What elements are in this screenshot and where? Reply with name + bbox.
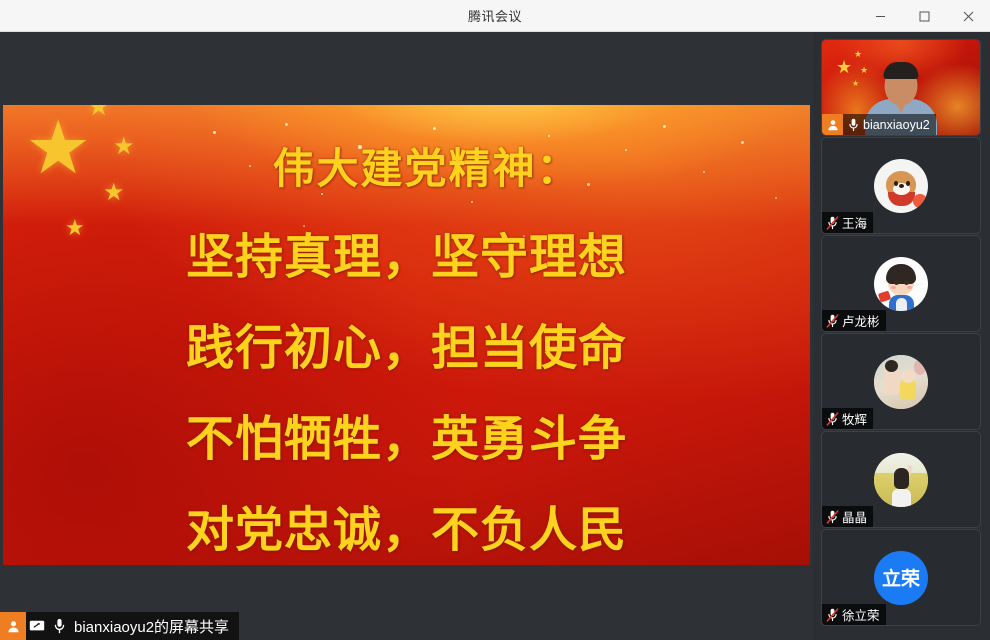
initials-avatar: 立荣 (874, 551, 928, 605)
slide-title: 伟大建党精神： (272, 135, 580, 196)
share-status-text: bianxiaoyu2的屏幕共享 (70, 616, 239, 637)
microphone-muted-icon[interactable] (822, 604, 842, 625)
participant-name: 晶晶 (842, 507, 867, 526)
microphone-muted-icon[interactable] (822, 408, 842, 429)
cartoon-boy-avatar-image (874, 257, 928, 311)
participant-tile[interactable]: 王海 (822, 138, 980, 233)
participant-name-strip: 晶晶 (822, 506, 873, 527)
participant-name: 牧辉 (842, 409, 867, 428)
participant-name-strip: 卢龙彬 (822, 310, 886, 331)
participant-tile[interactable]: 立荣 徐立荣 (822, 530, 980, 625)
slide-line-1: 坚持真理，坚守理想 (186, 217, 627, 287)
slide-line-3: 不怕牺牲，英勇斗争 (186, 399, 627, 469)
participant-tile-host[interactable]: ★ ★ ★ ★ (822, 40, 980, 135)
participant-tile[interactable]: 晶晶 (822, 432, 980, 527)
shiba-dog-avatar-image (874, 159, 928, 213)
screen-share-status-bar: bianxiaoyu2的屏幕共享 (0, 612, 239, 640)
slide-text-block: 伟大建党精神： 坚持真理，坚守理想 践行初心，担当使命 不怕牺牲，英勇斗争 对党… (3, 105, 810, 565)
shared-slide: ★ ★ ★ ★ ★ 伟大建党精神： 坚持真理，坚守理想 践行初心，担当使命 不怕… (3, 105, 810, 565)
participant-name: bianxiaoyu2 (863, 118, 930, 132)
microphone-muted-icon[interactable] (822, 506, 842, 527)
host-person-icon (0, 612, 26, 640)
slide-line-4: 对党忠诚，不负人民 (186, 490, 627, 560)
host-person-icon (822, 114, 843, 135)
shared-screen-stage[interactable]: ★ ★ ★ ★ ★ 伟大建党精神： 坚持真理，坚守理想 践行初心，担当使命 不怕… (0, 32, 813, 640)
photo-avatar-image (874, 453, 928, 507)
participant-name-strip: 牧辉 (822, 408, 873, 429)
close-button[interactable] (946, 0, 990, 32)
participant-name: 卢龙彬 (842, 311, 880, 330)
participant-name-strip: 王海 (822, 212, 873, 233)
window-title: 腾讯会议 (468, 6, 522, 25)
participant-name: 王海 (842, 213, 867, 232)
flag-star-icon: ★ (854, 50, 862, 59)
window-controls (858, 0, 990, 32)
flag-star-icon: ★ (836, 58, 852, 76)
meeting-window: 腾讯会议 (0, 0, 990, 640)
flag-star-icon: ★ (852, 80, 859, 88)
title-bar: 腾讯会议 (0, 0, 990, 32)
participant-rail[interactable]: ★ ★ ★ ★ (813, 32, 990, 640)
microphone-muted-icon[interactable] (822, 310, 842, 331)
slide-line-2: 践行初心，担当使命 (186, 308, 627, 378)
participant-tile[interactable]: 牧辉 (822, 334, 980, 429)
screen-share-icon (26, 612, 48, 640)
participant-name-strip: bianxiaoyu2 (822, 114, 936, 135)
microphone-muted-icon[interactable] (822, 212, 842, 233)
maximize-button[interactable] (902, 0, 946, 32)
participant-name-strip: 徐立荣 (822, 604, 886, 625)
microphone-icon[interactable] (843, 114, 863, 135)
participant-tile[interactable]: 卢龙彬 (822, 236, 980, 331)
participant-name: 徐立荣 (842, 605, 880, 624)
microphone-icon (48, 612, 70, 640)
minimize-button[interactable] (858, 0, 902, 32)
illustration-avatar-image (874, 355, 928, 409)
